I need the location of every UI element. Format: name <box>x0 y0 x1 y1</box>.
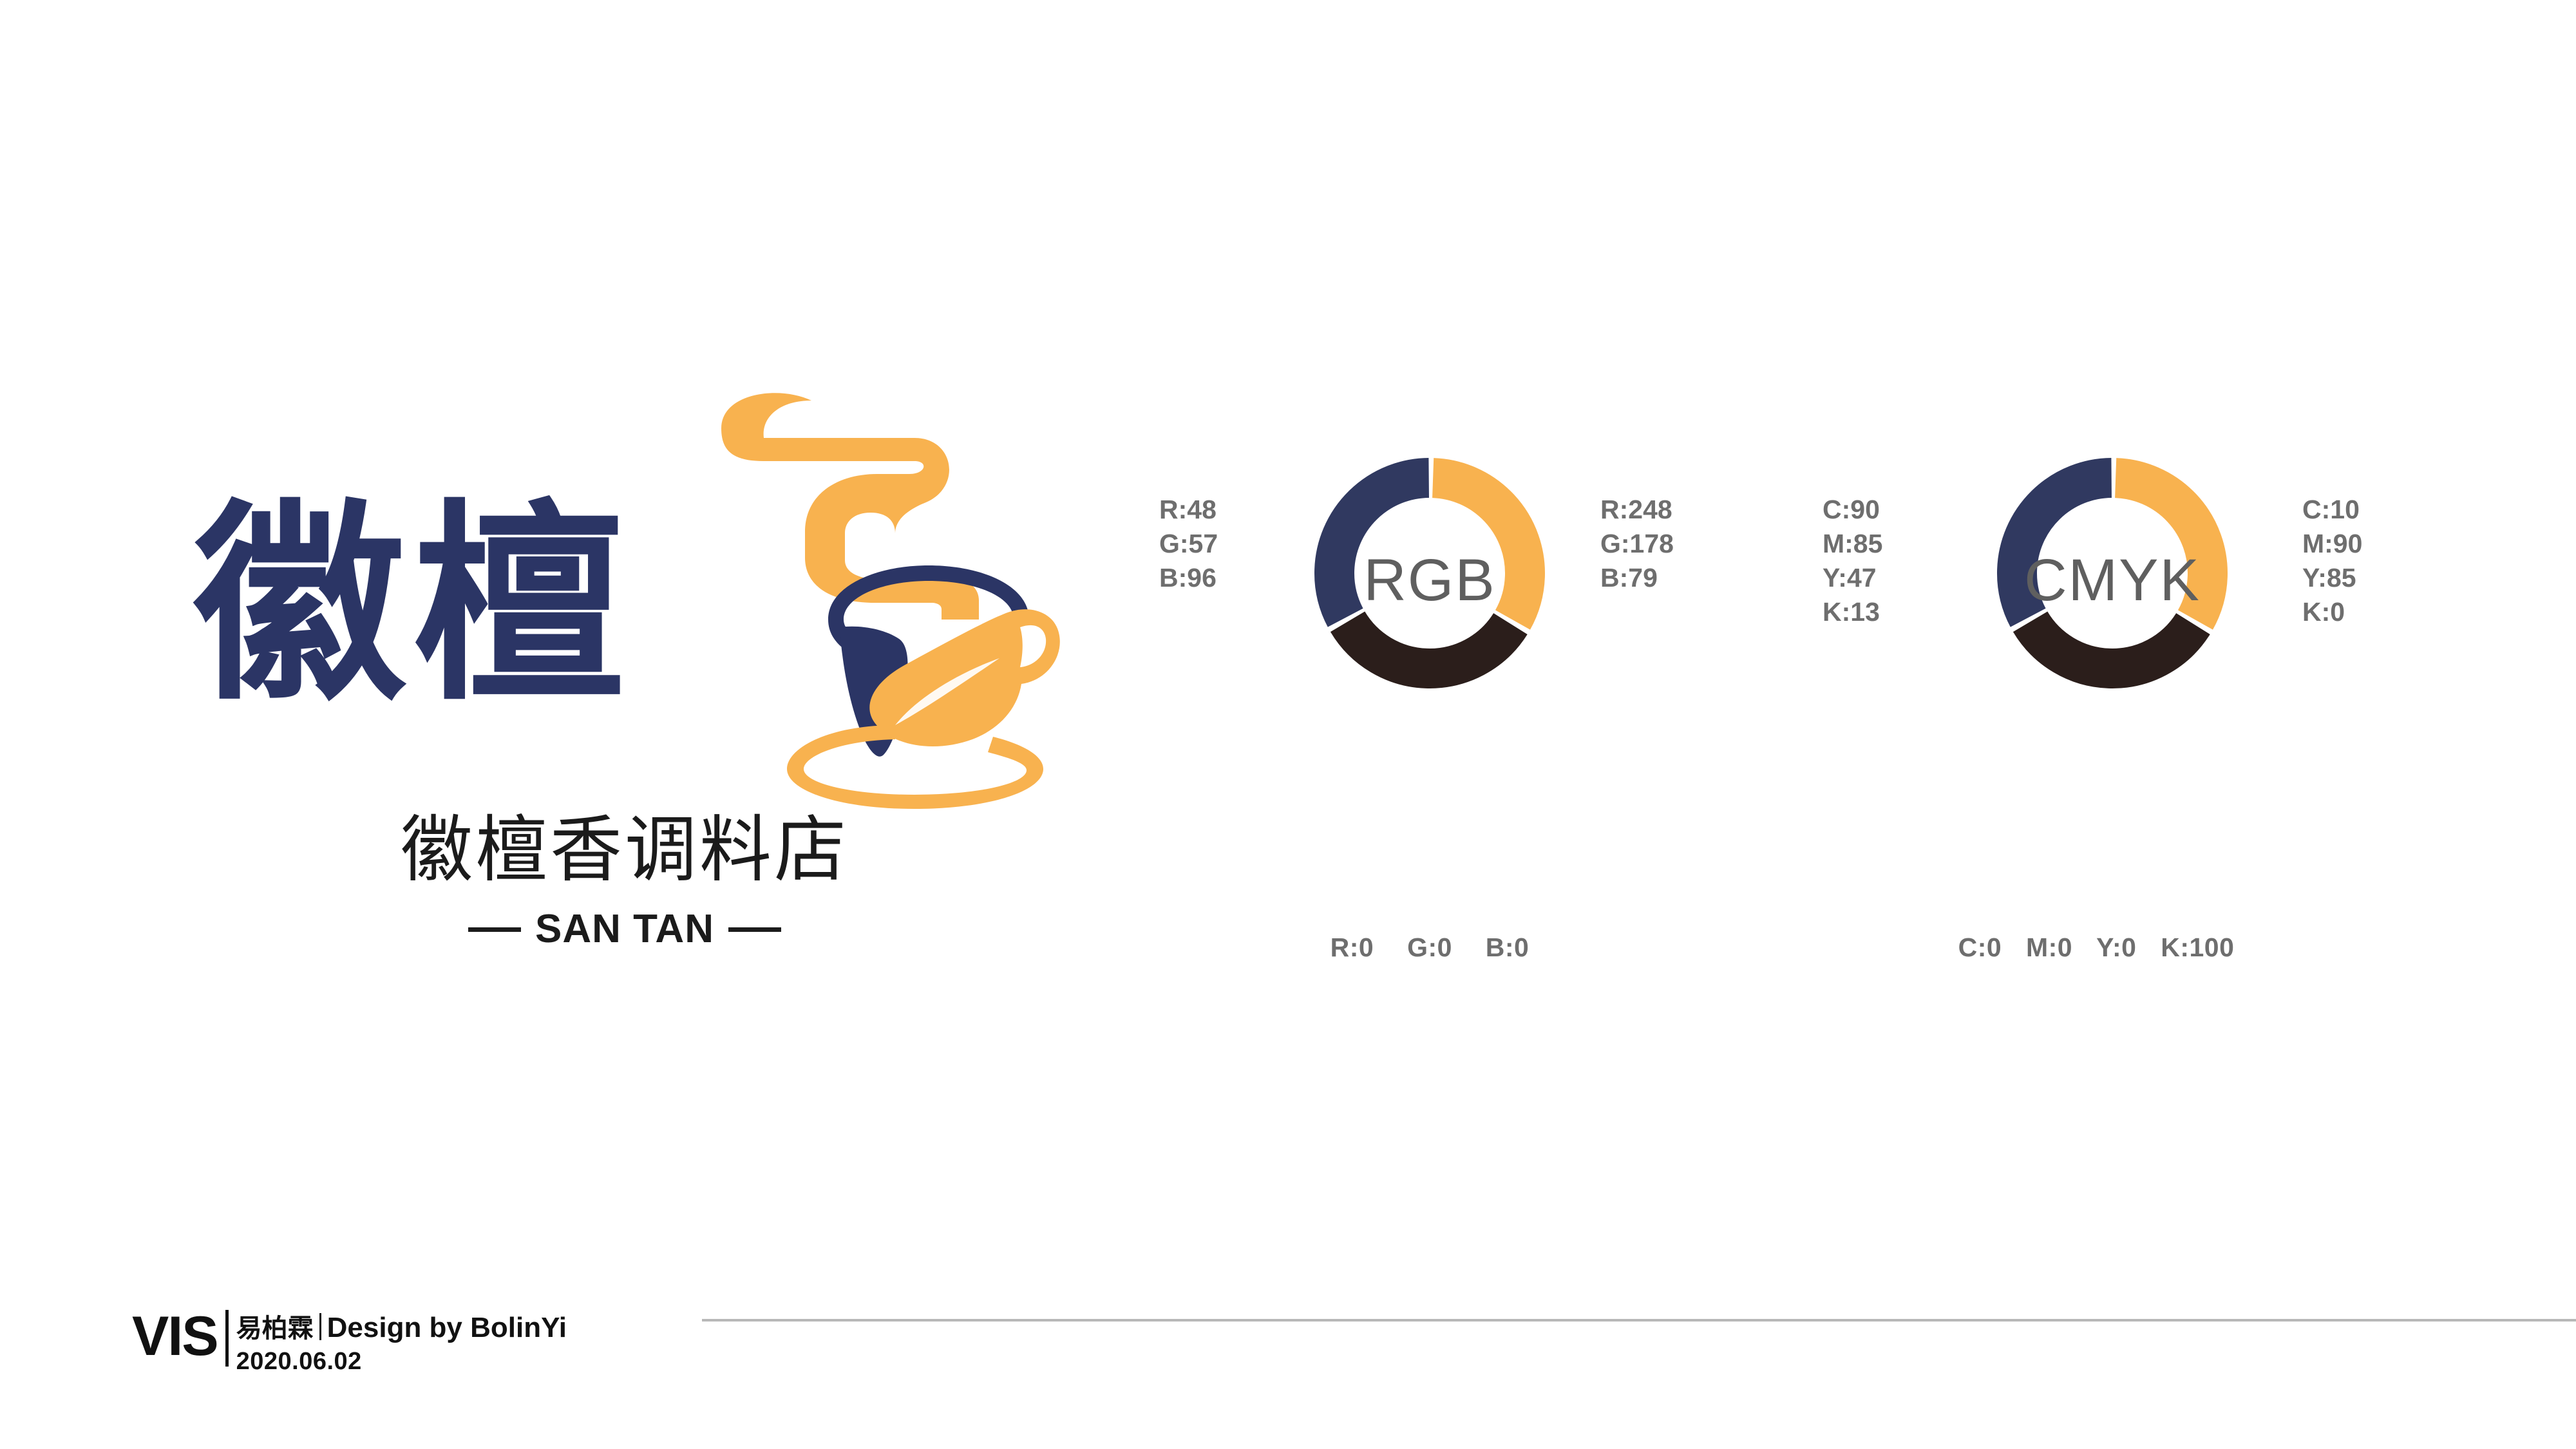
footer-credit-block: VIS 易柏霖 Design by BolinYi 2020.06.02 <box>132 1309 567 1376</box>
cmyk-navy-m: M:85 <box>1823 527 1882 561</box>
logo-subtitle-english-row: SAN TAN <box>167 908 1082 951</box>
footer-inline-divider <box>319 1313 321 1340</box>
rgb-navy-b: B:96 <box>1159 561 1218 595</box>
cmyk-black-k: K:100 <box>2161 933 2234 962</box>
rgb-orange-values: R:248 G:178 B:79 <box>1600 493 1674 595</box>
rgb-color-chart: RGB R:48 G:57 B:96 R:248 G:178 B:79 R:0 … <box>1121 451 1739 1005</box>
vis-label: VIS <box>132 1309 218 1364</box>
cmyk-orange-values: C:10 M:90 Y:85 K:0 <box>2302 493 2362 629</box>
rgb-orange-r: R:248 <box>1600 493 1674 527</box>
rgb-orange-b: B:79 <box>1600 561 1674 595</box>
footer-author-chinese: 易柏霖 <box>236 1314 314 1343</box>
cmyk-black-c: C:0 <box>1958 933 2002 962</box>
cmyk-black-y: Y:0 <box>2096 933 2136 962</box>
logo-lockup: 徽檀 <box>167 348 1082 1069</box>
footer-divider-bar <box>225 1310 229 1367</box>
footer-designer-credit: Design by BolinYi <box>327 1313 567 1343</box>
rgb-center-label: RGB <box>1307 551 1552 610</box>
cmyk-black-m: M:0 <box>2026 933 2072 962</box>
rgb-black-values: R:0 G:0 B:0 <box>1240 931 1620 965</box>
rgb-black-g: G:0 <box>1407 933 1452 962</box>
wordmark-chinese: 徽檀 <box>193 496 631 715</box>
cmyk-orange-c: C:10 <box>2302 493 2362 527</box>
cmyk-black-values: C:0 M:0 Y:0 K:100 <box>1897 931 2296 965</box>
rgb-navy-g: G:57 <box>1159 527 1218 561</box>
footer-text-stack: 易柏霖 Design by BolinYi 2020.06.02 <box>236 1309 567 1376</box>
cmyk-orange-y: Y:85 <box>2302 561 2362 595</box>
dash-right-decoration <box>728 927 781 932</box>
rgb-orange-g: G:178 <box>1600 527 1674 561</box>
rgb-black-r: R:0 <box>1331 933 1374 962</box>
cmyk-navy-values: C:90 M:85 Y:47 K:13 <box>1823 493 1882 629</box>
cmyk-navy-k: K:13 <box>1823 595 1882 629</box>
footer: VIS 易柏霖 Design by BolinYi 2020.06.02 <box>0 1294 2576 1449</box>
logo-subtitle-chinese: 徽檀香调料店 <box>167 811 1082 889</box>
footer-author-line: 易柏霖 Design by BolinYi <box>236 1310 567 1343</box>
dash-left-decoration <box>468 927 521 932</box>
rgb-black-b: B:0 <box>1486 933 1529 962</box>
logo-subtitle-english: SAN TAN <box>535 908 714 951</box>
cmyk-navy-c: C:90 <box>1823 493 1882 527</box>
brand-identity-page: 徽檀 <box>0 0 2576 1449</box>
cmyk-orange-k: K:0 <box>2302 595 2362 629</box>
rgb-navy-values: R:48 G:57 B:96 <box>1159 493 1218 595</box>
footer-date: 2020.06.02 <box>236 1347 567 1376</box>
cmyk-orange-m: M:90 <box>2302 527 2362 561</box>
cmyk-center-label: CMYK <box>1990 551 2235 610</box>
cmyk-navy-y: Y:47 <box>1823 561 1882 595</box>
cmyk-color-chart: CMYK C:90 M:85 Y:47 K:13 C:10 M:90 Y:85 … <box>1797 451 2447 1005</box>
rgb-navy-r: R:48 <box>1159 493 1218 527</box>
wordmark-row: 徽檀 <box>167 496 1082 766</box>
footer-horizontal-rule <box>702 1319 2576 1321</box>
steaming-coffee-cup-icon <box>702 367 1088 818</box>
